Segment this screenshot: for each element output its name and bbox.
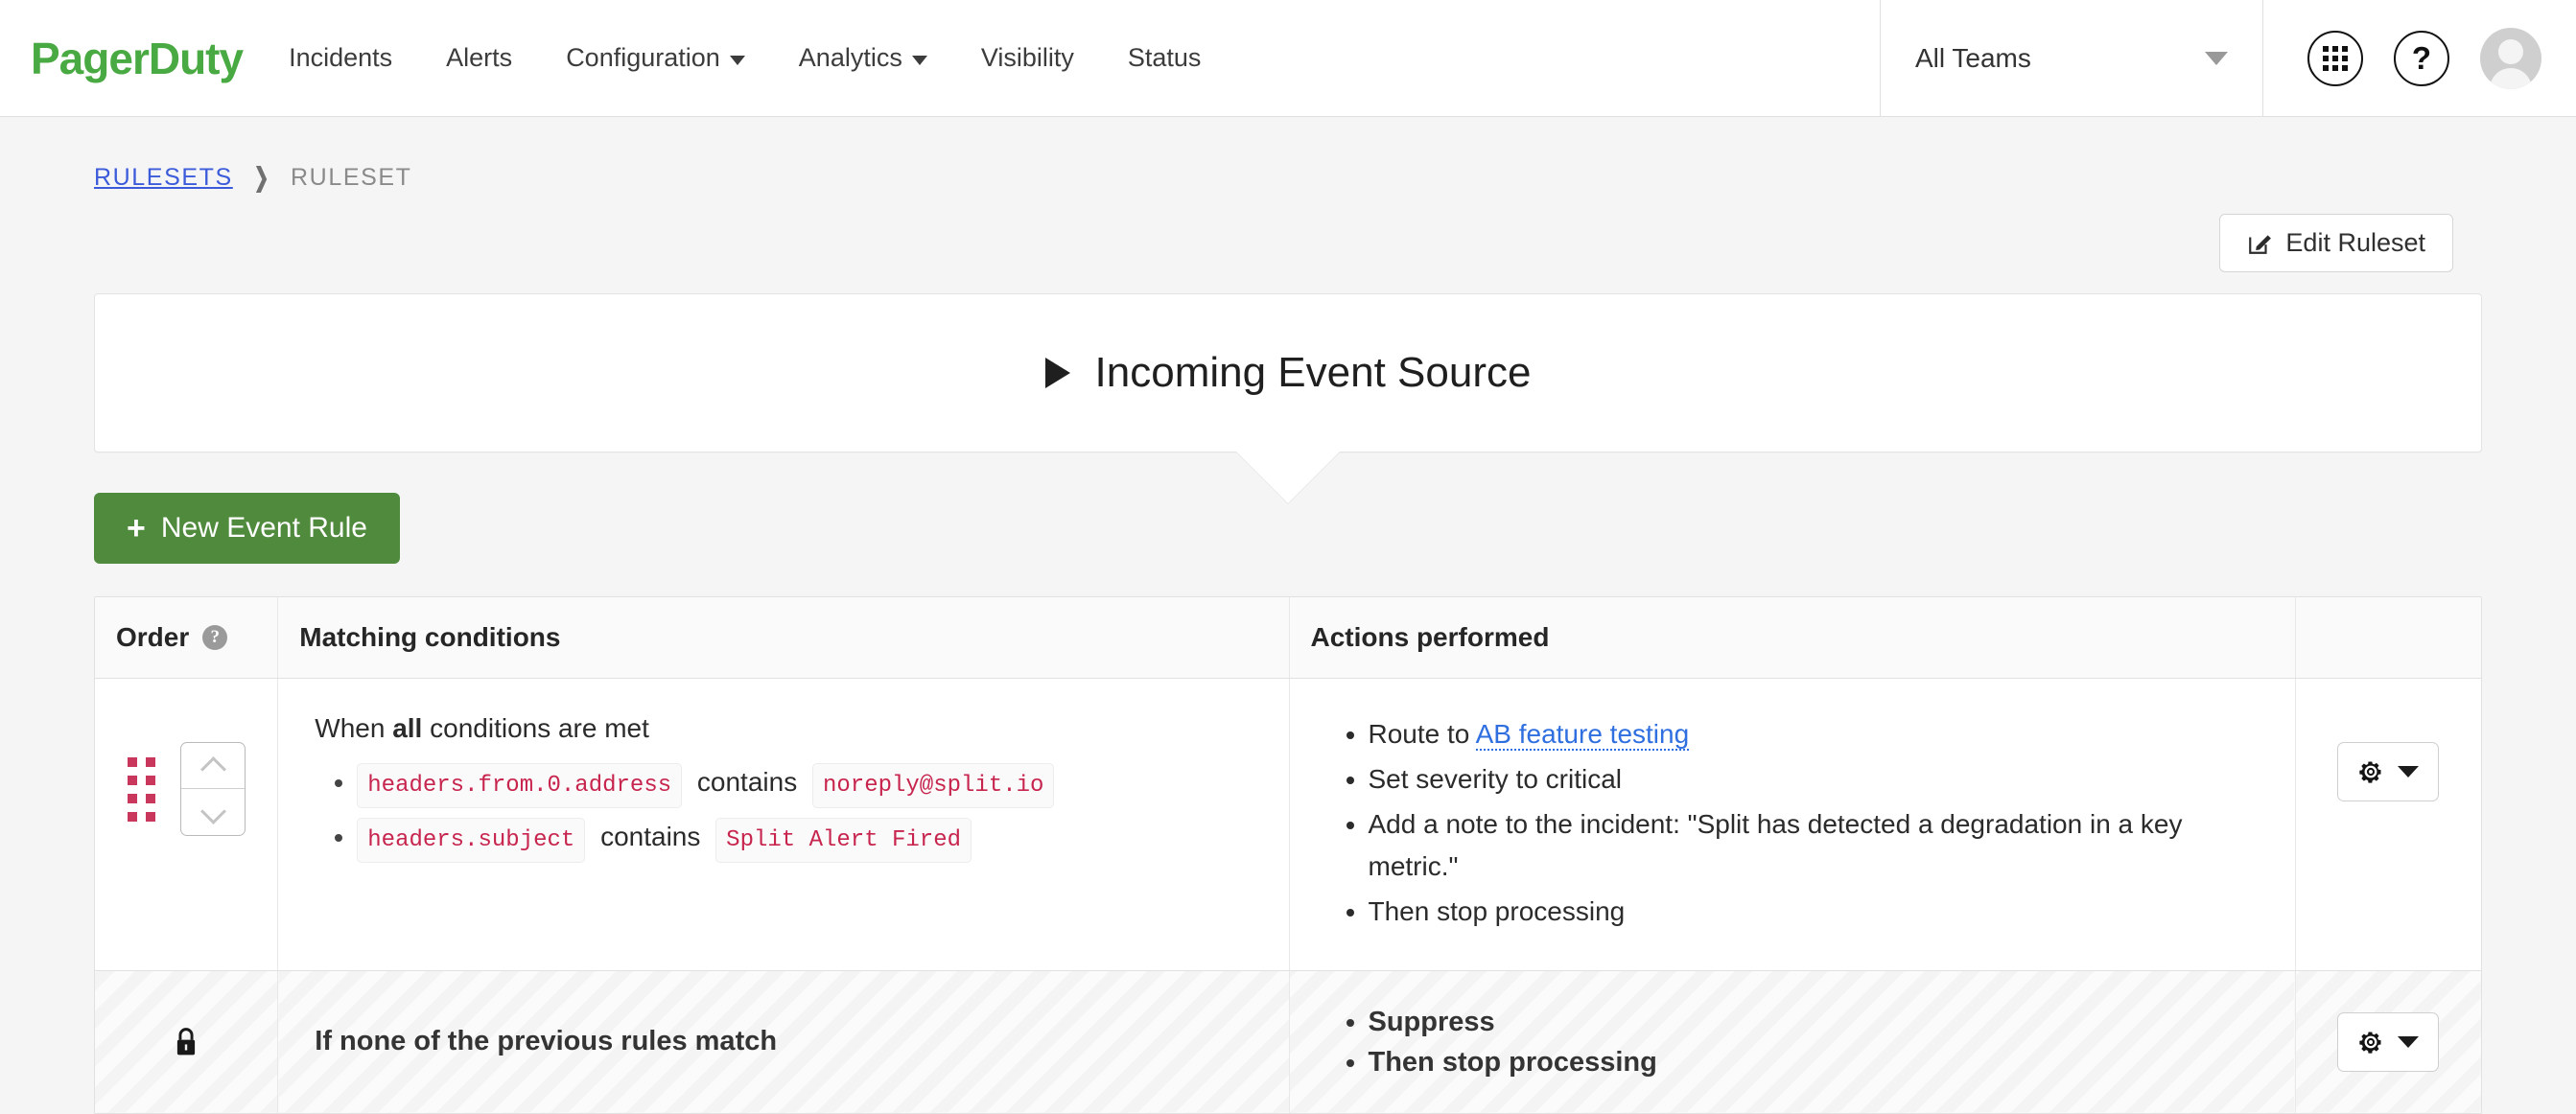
nav-item-label: Alerts [446, 43, 512, 73]
brand-logo[interactable]: PagerDuty [0, 0, 262, 116]
new-event-rule-button[interactable]: + New Event Rule [94, 493, 400, 564]
user-avatar-icon[interactable] [2480, 28, 2541, 89]
default-rule-lock-cell [95, 970, 278, 1113]
incoming-event-source-toggle[interactable]: Incoming Event Source [94, 293, 2482, 453]
table-row: When all conditions are met headers.from… [95, 679, 2481, 971]
new-event-rule-label: New Event Rule [161, 512, 367, 545]
default-actions-list: Suppress Then stop processing [1326, 1002, 1657, 1082]
nav-icon-group: ? [2263, 0, 2576, 116]
plus-icon: + [127, 512, 146, 545]
list-item: Add a note to the incident: "Split has d… [1369, 803, 2259, 890]
column-header-order-label: Order [116, 622, 189, 653]
nav-right-cluster: All Teams ? [1880, 0, 2576, 116]
lock-icon [172, 1026, 200, 1058]
nav-item-analytics[interactable]: Analytics [772, 0, 954, 116]
order-stepper [180, 742, 246, 836]
default-rule-row: If none of the previous rules match Supp… [95, 970, 2481, 1113]
column-header-actions-label: Actions performed [1311, 622, 1550, 652]
drag-handle-icon[interactable] [128, 757, 155, 822]
column-header-actions-performed: Actions performed [1289, 597, 2295, 679]
gear-icon [2357, 758, 2384, 785]
action-text: Then stop processing [1369, 896, 1626, 926]
default-rule-settings-menu-button[interactable] [2337, 1012, 2439, 1072]
nav-item-label: Analytics [799, 43, 902, 73]
list-item: headers.from.0.address contains noreply@… [357, 761, 1252, 808]
edit-ruleset-label: Edit Ruleset [2285, 228, 2425, 258]
chevron-down-icon [912, 56, 927, 65]
action-text: Route to [1369, 719, 1476, 749]
chevron-down-icon [202, 806, 223, 818]
gear-icon [2357, 1029, 2384, 1056]
action-text: Set severity to critical [1369, 764, 1623, 794]
top-navigation-bar: PagerDuty Incidents Alerts Configuration… [0, 0, 2576, 117]
nav-item-label: Incidents [289, 43, 392, 73]
condition-value-chip: noreply@split.io [812, 763, 1054, 808]
column-header-matching-label: Matching conditions [299, 622, 560, 652]
grid-apps-icon[interactable] [2307, 31, 2363, 86]
default-rule-menu-cell [2295, 970, 2481, 1113]
speech-bubble-tail [1236, 452, 1340, 503]
action-link-route-target[interactable]: AB feature testing [1476, 719, 1690, 751]
nav-item-label: Configuration [566, 43, 720, 73]
breadcrumb: RULESETS ❯ RULESET [0, 117, 2576, 193]
chevron-down-icon [2398, 1036, 2419, 1048]
column-header-menu [2295, 597, 2481, 679]
column-header-matching-conditions: Matching conditions [278, 597, 1289, 679]
table-header-row: Order ? Matching conditions Actions perf… [95, 597, 2481, 679]
help-circle-icon[interactable]: ? [202, 625, 227, 650]
when-operator: all [392, 713, 422, 743]
list-item: Route to AB feature testing [1369, 713, 2259, 756]
default-rule-label: If none of the previous rules match [278, 971, 1288, 1113]
chevron-down-icon [730, 56, 745, 65]
default-rule-actions-cell: Suppress Then stop processing [1289, 970, 2295, 1113]
condition-field-chip: headers.from.0.address [357, 763, 682, 808]
condition-value-chip: Split Alert Fired [715, 818, 972, 863]
nav-item-label: Visibility [981, 43, 1074, 73]
condition-operator: contains [593, 822, 708, 851]
move-up-button[interactable] [181, 743, 245, 789]
list-item: Set severity to critical [1369, 758, 2259, 801]
when-prefix: When [315, 713, 385, 743]
conditions-list: headers.from.0.address contains noreply@… [315, 761, 1252, 863]
column-header-order: Order ? [95, 597, 278, 679]
grid-apps-glyph [2323, 46, 2348, 71]
list-item: headers.subject contains Split Alert Fir… [357, 816, 1252, 863]
team-selector[interactable]: All Teams [1880, 0, 2263, 116]
edit-ruleset-button[interactable]: Edit Ruleset [2219, 214, 2453, 272]
nav-item-status[interactable]: Status [1101, 0, 1229, 116]
when-suffix: conditions are met [430, 713, 649, 743]
actions-performed-cell: Route to AB feature testing Set severity… [1289, 679, 2295, 971]
action-text: Add a note to the incident: "Split has d… [1369, 809, 2183, 882]
list-item: Then stop processing [1369, 891, 2259, 934]
row-menu-cell [2295, 679, 2481, 971]
move-down-button[interactable] [181, 789, 245, 835]
condition-operator: contains [690, 767, 805, 797]
incoming-event-source-section: Incoming Event Source [94, 293, 2482, 453]
breadcrumb-current-ruleset: RULESET [291, 164, 412, 192]
question-mark-icon[interactable]: ? [2394, 31, 2449, 86]
nav-item-incidents[interactable]: Incidents [262, 0, 419, 116]
chevron-up-icon [202, 760, 223, 772]
actions-list: Route to AB feature testing Set severity… [1326, 713, 2259, 934]
chevron-down-icon [2205, 52, 2228, 65]
brand-logo-text: PagerDuty [31, 36, 243, 81]
team-selector-value: All Teams [1915, 43, 2031, 74]
question-mark-glyph: ? [2412, 42, 2431, 74]
rule-settings-menu-button[interactable] [2337, 742, 2439, 801]
page-title: Incoming Event Source [1095, 349, 1532, 397]
primary-nav-items: Incidents Alerts Configuration Analytics… [262, 0, 1228, 116]
toolbar: Edit Ruleset [0, 193, 2576, 272]
pencil-square-icon [2247, 231, 2272, 256]
nav-item-configuration[interactable]: Configuration [539, 0, 772, 116]
nav-item-visibility[interactable]: Visibility [954, 0, 1101, 116]
triangle-right-icon[interactable] [1045, 358, 1070, 388]
when-conditions-line: When all conditions are met [315, 713, 1252, 744]
default-rule-label-cell: If none of the previous rules match [278, 970, 1289, 1113]
order-cell [95, 679, 278, 971]
chevron-down-icon [2398, 766, 2419, 777]
breadcrumb-link-rulesets[interactable]: RULESETS [94, 164, 233, 192]
list-item: Then stop processing [1369, 1042, 1657, 1082]
chevron-right-icon: ❯ [253, 163, 269, 193]
condition-field-chip: headers.subject [357, 818, 585, 863]
matching-conditions-cell: When all conditions are met headers.from… [278, 679, 1289, 971]
page-content: RULESETS ❯ RULESET Edit Ruleset Incoming… [0, 117, 2576, 1114]
event-rules-table: Order ? Matching conditions Actions perf… [94, 596, 2482, 1114]
nav-item-label: Status [1128, 43, 1202, 73]
nav-item-alerts[interactable]: Alerts [419, 0, 539, 116]
incoming-event-source-title-group: Incoming Event Source [1045, 349, 1532, 397]
list-item: Suppress [1369, 1002, 1657, 1042]
